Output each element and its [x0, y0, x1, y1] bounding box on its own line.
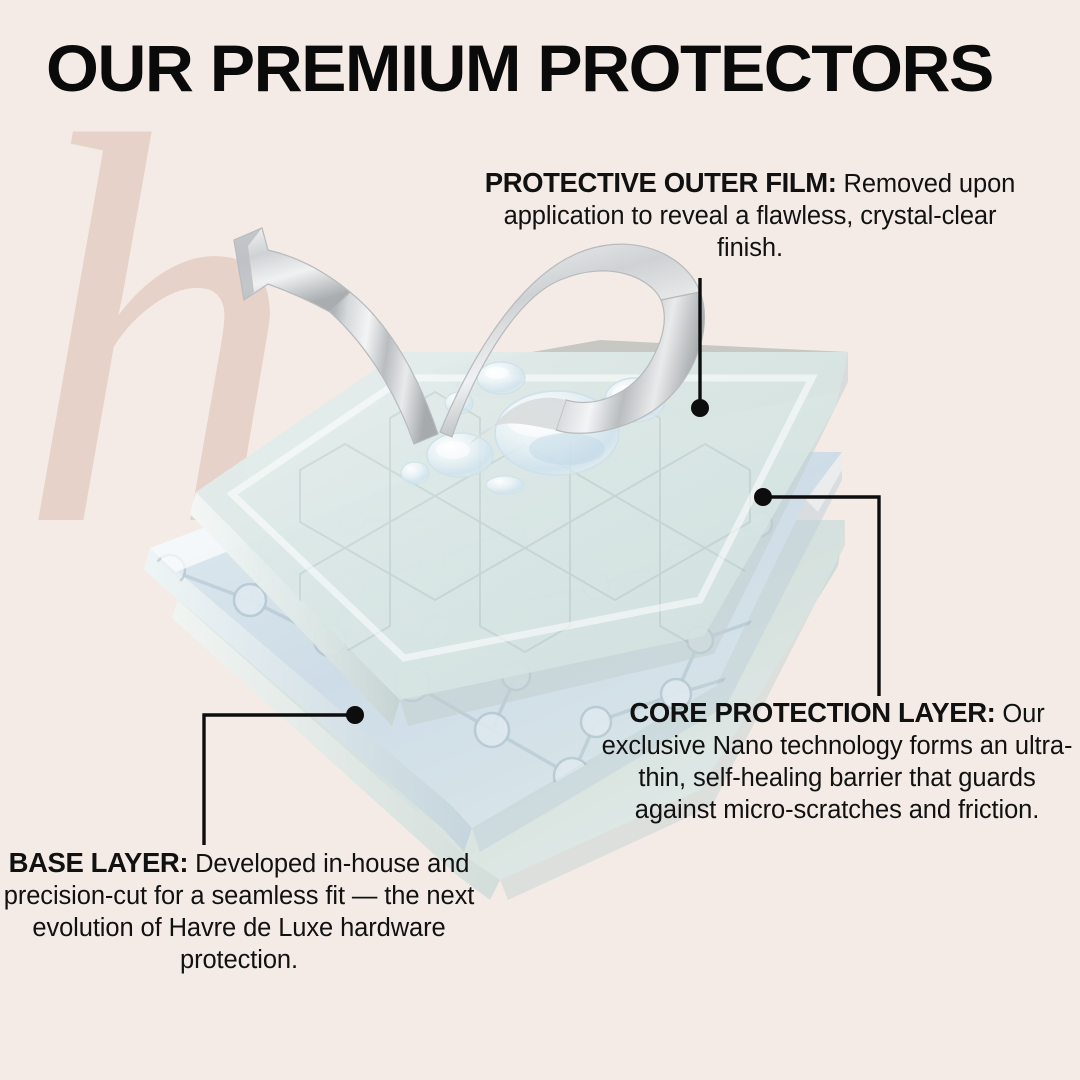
callout-core-text: CORE PROTECTION LAYER: Our exclusive Nan…	[596, 696, 1078, 827]
callout-base-text: BASE LAYER: Developed in-house and preci…	[0, 846, 478, 977]
callout-film-text: PROTECTIVE OUTER FILM: Removed upon appl…	[470, 166, 1030, 265]
callout-base-lead: BASE LAYER:	[9, 847, 188, 878]
callout-protective-outer-film: PROTECTIVE OUTER FILM: Removed upon appl…	[470, 166, 1030, 265]
callout-film-lead: PROTECTIVE OUTER FILM:	[485, 167, 837, 198]
callout-base-layer: BASE LAYER: Developed in-house and preci…	[0, 846, 478, 977]
callout-core-lead: CORE PROTECTION LAYER:	[629, 697, 995, 728]
callout-core-protection-layer: CORE PROTECTION LAYER: Our exclusive Nan…	[596, 696, 1078, 827]
page-title: OUR PREMIUM PROTECTORS	[46, 30, 1076, 106]
poster-canvas: h OUR PREMIUM PROTECTORS	[0, 0, 1080, 1080]
